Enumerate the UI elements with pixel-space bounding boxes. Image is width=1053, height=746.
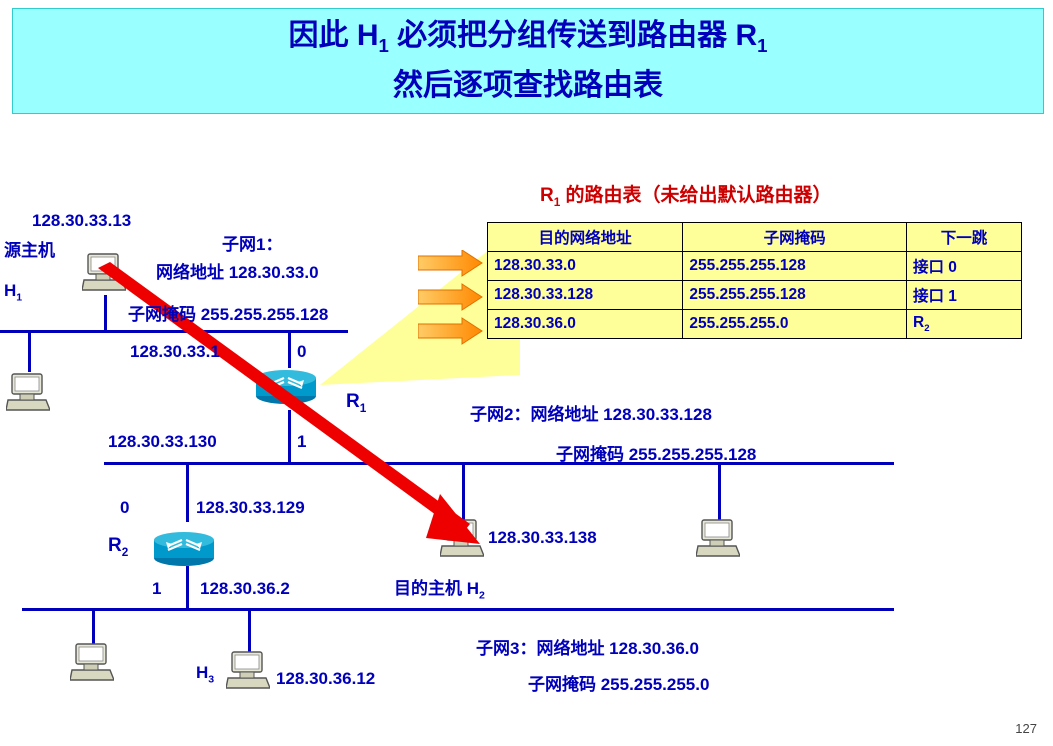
cell-mask: 255.255.255.0 [683,310,907,339]
cell-next-hop: 接口 0 [906,252,1021,281]
cell-next-hop: 接口 1 [906,281,1021,310]
cell-destination: 128.30.36.0 [488,310,683,339]
caption-r: R [540,185,554,206]
cell-next-hop: R2 [906,310,1021,339]
title-line-2: 然后逐项查找路由表 [393,66,663,106]
r2-sub: 2 [122,546,129,559]
label-h2-ip: 128.30.33.138 [488,527,597,548]
slide-canvas: 因此 H1 必须把分组传送到路由器 R1 然后逐项查找路由表 R1 的路由表（未… [0,0,1053,746]
cell-next-hop-r: R [913,314,924,331]
title-text-b: 必须把分组传送到路由器 R [389,19,757,52]
subnet2-drop-pc [718,462,721,520]
label-r1-if0-num: 0 [297,341,306,362]
caption-rest: 的路由表（未给出默认路由器） [560,185,831,206]
title-line-1: 因此 H1 必须把分组传送到路由器 R1 [288,16,767,66]
h1-sub: 1 [16,291,22,303]
label-subnet3-line2: 子网掩码 255.255.255.0 [528,674,709,695]
h2-text: 目的主机 H [394,579,479,598]
label-h3-name: H3 [196,662,214,687]
label-subnet3-line1: 子网3：网络地址 128.30.36.0 [476,638,699,659]
subnet3-uplink-r2 [186,566,189,610]
th-destination: 目的网络地址 [488,223,683,252]
label-h3-ip: 128.30.36.12 [276,668,375,689]
label-h1-ip: 128.30.33.13 [32,210,131,231]
label-r2-if0-num: 0 [120,497,129,518]
table-row: 128.30.36.0 255.255.255.0 R2 [488,310,1022,339]
label-r1-name: R1 [346,390,366,417]
page-number: 127 [1015,721,1037,736]
label-r2-if1-ip: 128.30.36.2 [200,578,290,599]
label-subnet2-line1: 子网2：网络地址 128.30.33.128 [470,404,712,425]
label-subnet1-title: 子网1： [222,234,282,255]
subnet3-drop-h3 [248,608,251,652]
h3-letter: H [196,663,208,682]
table-row: 128.30.33.128 255.255.255.128 接口 1 [488,281,1022,310]
label-h2-name: 目的主机 H2 [394,578,485,603]
cell-next-hop-sub: 2 [924,323,929,334]
cell-mask: 255.255.255.128 [683,252,907,281]
label-r1-if0-ip: 128.30.33.1 [130,341,220,362]
th-subnet-mask: 子网掩码 [683,223,907,252]
host-pc-subnet2-icon [696,518,740,558]
label-r1-if1-ip: 128.30.33.130 [108,431,217,452]
host-h3-icon [226,650,270,690]
cell-destination: 128.30.33.0 [488,252,683,281]
host-pc-subnet3-icon [70,642,114,682]
label-r1-if1-num: 1 [297,431,306,452]
routing-table: 目的网络地址 子网掩码 下一跳 128.30.33.0 255.255.255.… [487,222,1022,339]
title-sub-2: 1 [757,35,767,56]
label-subnet1-mask: 子网掩码 255.255.255.128 [128,304,328,325]
cell-destination: 128.30.33.128 [488,281,683,310]
title-sub-1: 1 [378,35,388,56]
r2-letter: R [108,535,122,556]
table-header-row: 目的网络地址 子网掩码 下一跳 [488,223,1022,252]
label-source-host: 源主机 [4,240,55,261]
title-text-a: 因此 H [288,19,378,52]
label-r2-if0-ip: 128.30.33.129 [196,497,305,518]
subnet1-drop-pc2 [28,330,31,372]
routing-table-caption: R1 的路由表（未给出默认路由器） [540,180,832,209]
h1-letter: H [4,281,16,300]
r1-letter: R [346,391,360,412]
title-banner: 因此 H1 必须把分组传送到路由器 R1 然后逐项查找路由表 [12,8,1044,114]
label-subnet2-line2: 子网掩码 255.255.255.128 [556,444,756,465]
label-r2-if1-num: 1 [152,578,161,599]
subnet3-bus [22,608,894,611]
label-r2-name: R2 [108,534,128,561]
host-pc-subnet1-icon [6,372,50,412]
h3-sub: 3 [208,673,214,685]
r1-sub: 1 [360,402,367,415]
h2-sub: 2 [479,589,485,601]
th-next-hop: 下一跳 [906,223,1021,252]
cell-mask: 255.255.255.128 [683,281,907,310]
label-h1-name: H1 [4,280,22,305]
table-row: 128.30.33.0 255.255.255.128 接口 0 [488,252,1022,281]
label-subnet1-network: 网络地址 128.30.33.0 [156,262,319,283]
subnet3-drop-pc1 [92,608,95,644]
